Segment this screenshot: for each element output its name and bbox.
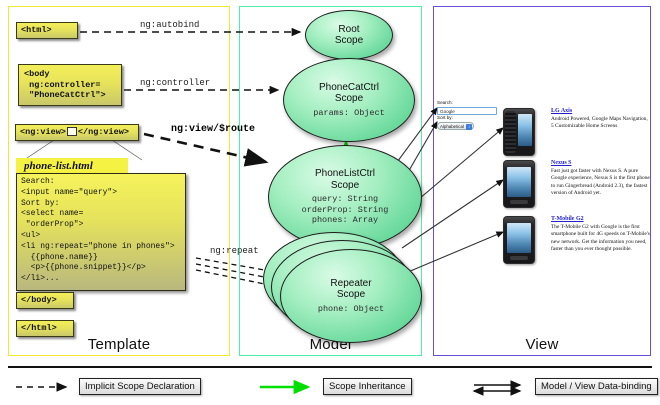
scope-root: Root Scope (305, 10, 393, 60)
search-label: Search: (437, 100, 499, 107)
phone-name-link[interactable]: T-Mobile G2 (551, 216, 651, 222)
tag-ngview-open: <ng:view> (20, 127, 66, 137)
phone-text-lg-axis: LG Axis Android Powered, Google Maps Nav… (551, 108, 651, 131)
nav-bar-detail (510, 256, 528, 260)
double-arrow-icon (470, 380, 530, 394)
phone-snippet: Fast just got faster with Nexus S. A pur… (551, 168, 651, 197)
phone-thumbnail-t-mobile-g2 (503, 216, 535, 264)
legend-label-inheritance: Scope Inheritance (323, 378, 412, 395)
legend-item-implicit: Implicit Scope Declaration (14, 378, 201, 395)
callout-code: Search: <input name="query"> Sort by: <s… (16, 173, 186, 291)
tag-html-close: </html> (16, 320, 74, 337)
phone-text-nexus-s: Nexus S Fast just got faster with Nexus … (551, 160, 651, 197)
diagram-canvas: Template Model View (0, 0, 660, 405)
screen-detail (507, 167, 531, 197)
legend-label-implicit: Implicit Scope Declaration (79, 378, 201, 395)
scope-repeater-props: phone: Object (318, 304, 384, 315)
phone-snippet: The T-Mobile G2 with Google is the first… (551, 224, 651, 253)
legend: Implicit Scope Declaration Scope Inherit… (0, 366, 660, 405)
tag-ngview-close: </ng:view> (78, 127, 129, 137)
nav-bar-detail (510, 200, 528, 204)
tag-body-close: </body> (16, 292, 74, 309)
phone-snippet: Android Powered, Google Maps Navigation,… (551, 116, 651, 131)
legend-divider (8, 366, 652, 368)
phone-thumbnail-lg-axis (503, 108, 535, 156)
column-label-template: Template (9, 336, 229, 353)
edge-label-autobind: ng:autobind (140, 20, 199, 30)
scope-phonecatctrl-props: params: Object (313, 108, 384, 119)
scope-phonelistctrl-name: PhoneListCtrl Scope (315, 168, 375, 191)
tag-body-open: <body ng:controller= "PhoneCatCtrl"> (18, 64, 122, 106)
scope-repeater: Repeater Scope phone: Object (280, 249, 422, 343)
phone-name-link[interactable]: LG Axis (551, 108, 651, 114)
legend-item-inheritance: Scope Inheritance (258, 378, 412, 395)
dashed-arrow-icon (14, 380, 74, 394)
view-search-form: Search: Google Sort by: Alphabetical ↕ (437, 100, 499, 130)
scope-phonecatctrl: PhoneCatCtrl Scope params: Object (283, 58, 415, 142)
scope-phonelistctrl-props: query: String orderProp: String phones: … (302, 194, 389, 226)
sort-select[interactable]: Alphabetical ↕ (437, 122, 474, 130)
scope-repeater-name: Repeater Scope (330, 278, 371, 301)
phone-text-t-mobile-g2: T-Mobile G2 The T-Mobile G2 with Google … (551, 216, 651, 253)
legend-item-databinding: Model / View Data-binding (470, 378, 658, 395)
sort-label: Sort by: (437, 115, 499, 122)
screen-detail (518, 114, 532, 146)
keyboard-detail (505, 111, 516, 153)
screen-detail (507, 223, 531, 253)
search-input[interactable]: Google (437, 107, 497, 115)
edge-label-repeat: ng:repeat (210, 246, 259, 256)
template-file-callout: phone-list.html Search: <input name="que… (16, 158, 186, 291)
sort-select-value: Alphabetical (440, 124, 464, 129)
placeholder-box-icon (67, 127, 77, 136)
tag-ngview: <ng:view></ng:view> (15, 124, 139, 141)
column-label-view: View (434, 336, 650, 353)
legend-label-databinding: Model / View Data-binding (535, 378, 658, 395)
edge-label-controller: ng:controller (140, 78, 210, 88)
chevron-down-icon: ↕ (466, 124, 472, 130)
green-arrow-icon (258, 380, 318, 394)
phone-thumbnail-nexus-s (503, 160, 535, 208)
callout-filename: phone-list.html (16, 158, 128, 173)
edge-label-route: ng:view/$route (171, 124, 255, 135)
phone-name-link[interactable]: Nexus S (551, 160, 651, 166)
scope-phonecatctrl-name: PhoneCatCtrl Scope (319, 82, 379, 105)
scope-root-name: Root Scope (335, 24, 363, 47)
tag-html-open: <html> (16, 22, 78, 39)
